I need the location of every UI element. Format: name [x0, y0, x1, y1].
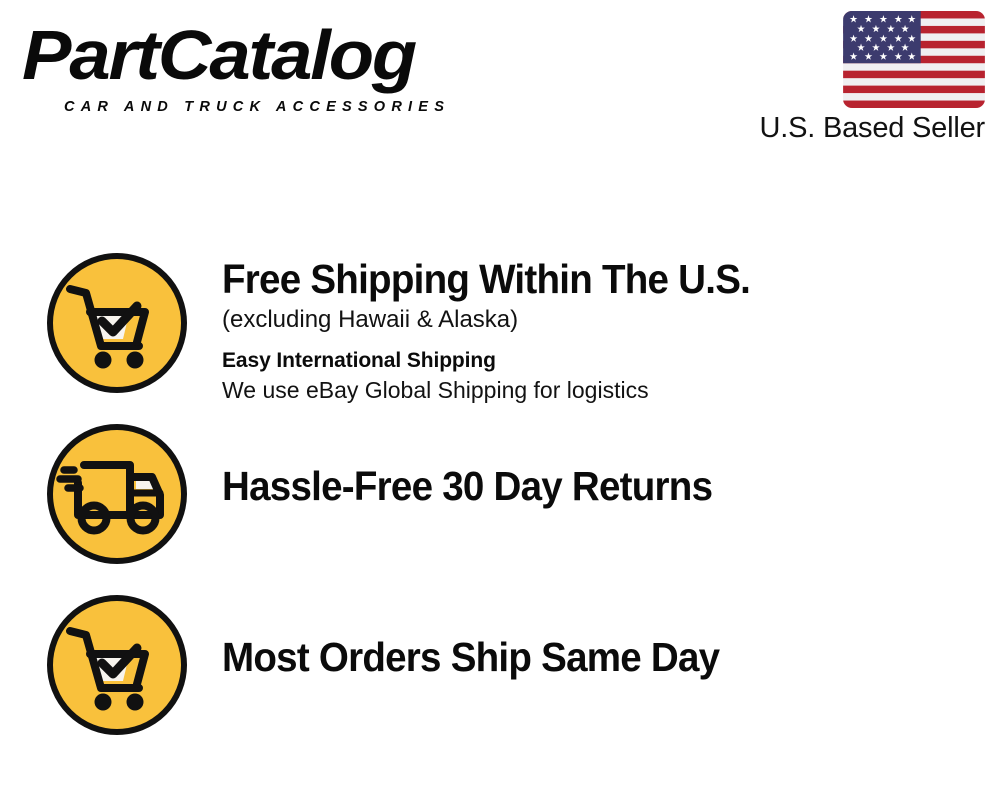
page-header: PartCatalog CAR AND TRUCK ACCESSORIES: [0, 0, 1000, 170]
feature-text-block: Free Shipping Within The U.S. (excluding…: [222, 256, 982, 405]
us-based-seller-label: U.S. Based Seller: [715, 111, 985, 145]
feature-title: Most Orders Ship Same Day: [222, 634, 936, 680]
us-based-seller-badge: U.S. Based Seller: [715, 11, 985, 145]
feature-title: Hassle-Free 30 Day Returns: [222, 463, 936, 509]
brand-wordmark: PartCatalog: [22, 18, 415, 92]
feature-text-block: Most Orders Ship Same Day: [222, 634, 982, 680]
shopping-cart-check-icon: [44, 592, 190, 738]
feature-sub-note: We use eBay Global Shipping for logistic…: [222, 376, 982, 405]
delivery-truck-icon: [44, 421, 190, 567]
feature-title: Free Shipping Within The U.S.: [222, 256, 936, 302]
partcatalog-logo[interactable]: PartCatalog CAR AND TRUCK ACCESSORIES: [22, 18, 492, 113]
brand-tagline: CAR AND TRUCK ACCESSORIES: [64, 98, 450, 115]
us-flag-icon: [843, 11, 985, 108]
shopping-cart-check-icon: [44, 250, 190, 396]
feature-sub-title: Easy International Shipping: [222, 348, 982, 374]
feature-text-block: Hassle-Free 30 Day Returns: [222, 463, 982, 509]
feature-note: (excluding Hawaii & Alaska): [222, 305, 982, 335]
